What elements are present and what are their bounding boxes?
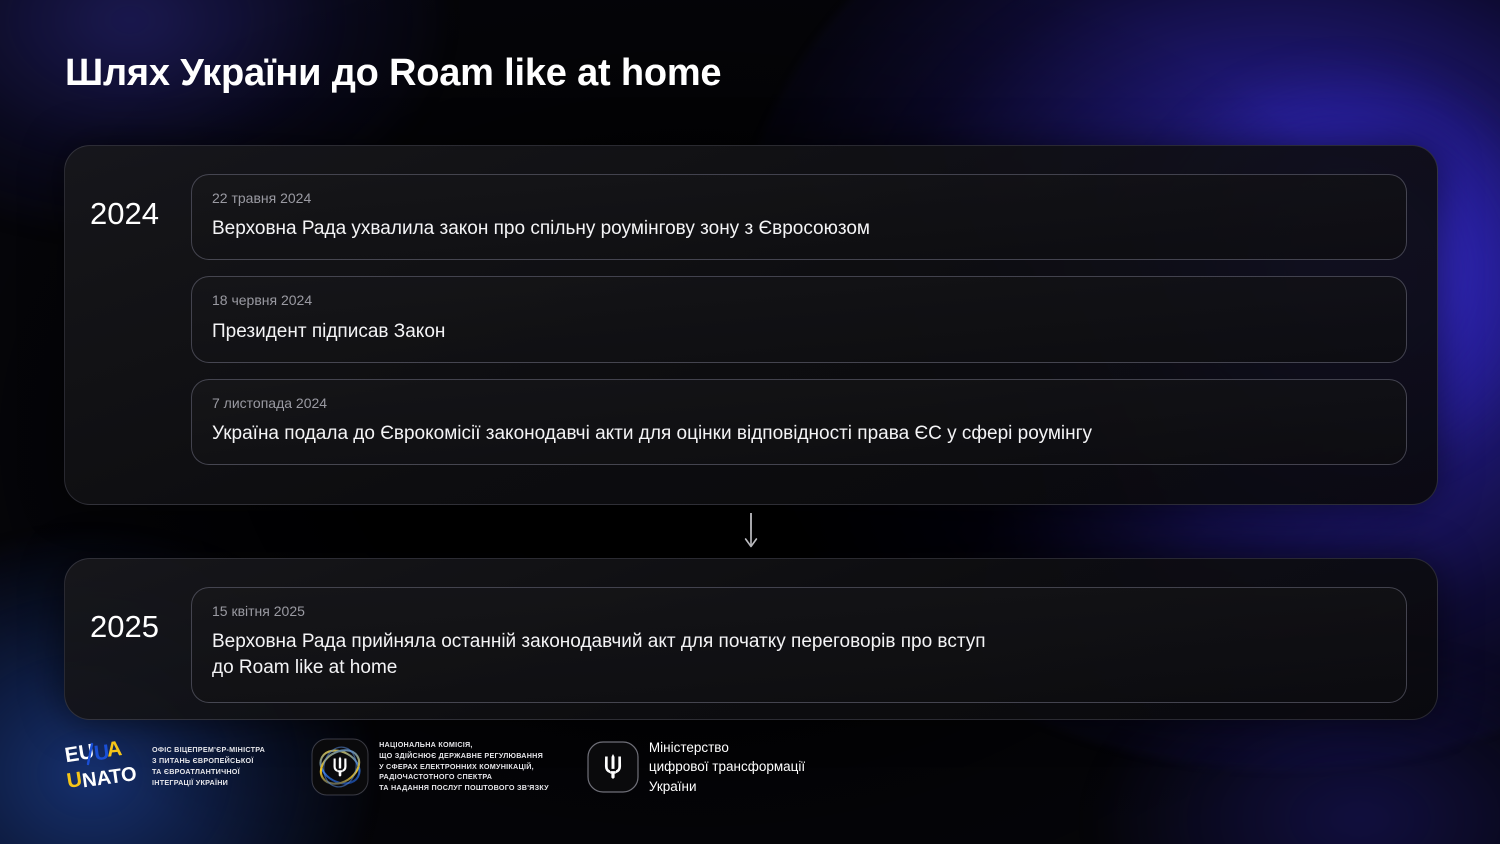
footer-logo-caption: Міністерство цифрової трансформації Укра… bbox=[649, 738, 805, 795]
event-text: Верховна Рада ухвалила закон про спільну… bbox=[212, 216, 1386, 242]
event-date: 7 листопада 2024 bbox=[212, 394, 1386, 412]
event-text: Президент підписав Закон bbox=[212, 319, 1386, 345]
event-date: 22 травня 2024 bbox=[212, 189, 1386, 207]
footer-logo-nkek: НАЦІОНАЛЬНА КОМІСІЯ, ЩО ЗДІЙСНЮЄ ДЕРЖАВН… bbox=[311, 738, 549, 796]
event-date: 18 червня 2024 bbox=[212, 291, 1386, 309]
event-card-list-2025: 15 квітня 2025 Верховна Рада прийняла ос… bbox=[191, 587, 1407, 703]
year-group-2025: 2025 15 квітня 2025 Верховна Рада прийня… bbox=[64, 558, 1438, 720]
page-title: Шлях України до Roam like at home bbox=[65, 52, 721, 96]
down-arrow-icon bbox=[744, 513, 758, 553]
svg-text:NATO: NATO bbox=[81, 763, 138, 792]
event-text: Верховна Рада прийняла останній законода… bbox=[212, 629, 1386, 681]
event-card[interactable]: 7 листопада 2024 Україна подала до Єврок… bbox=[191, 379, 1407, 465]
footer-logo-mintsyfra: Міністерство цифрової трансформації Укра… bbox=[587, 738, 805, 795]
footer-logo-bar: EU U A U NATO bbox=[62, 736, 805, 798]
year-label-2025: 2025 bbox=[65, 587, 191, 645]
year-group-2024: 2024 22 травня 2024 Верховна Рада ухвали… bbox=[64, 145, 1438, 505]
svg-text:A: A bbox=[105, 737, 123, 762]
slide-root: Шлях України до Roam like at home 2024 2… bbox=[0, 0, 1500, 844]
event-text: Україна подала до Єврокомісії законодавч… bbox=[212, 421, 1386, 447]
footer-logo-caption: НАЦІОНАЛЬНА КОМІСІЯ, ЩО ЗДІЙСНЮЄ ДЕРЖАВН… bbox=[379, 740, 549, 795]
nkek-trident-logo-icon bbox=[311, 738, 369, 796]
footer-logo-caption: ОФІС ВІЦЕПРЕМ'ЄР-МІНІСТРА З ПИТАНЬ ЄВРОП… bbox=[152, 745, 265, 789]
event-card[interactable]: 18 червня 2024 Президент підписав Закон bbox=[191, 276, 1407, 362]
footer-logo-eu-ua-nato: EU U A U NATO bbox=[62, 736, 265, 798]
year-label-2024: 2024 bbox=[65, 174, 191, 232]
eu-ua-nato-logo-icon: EU U A U NATO bbox=[62, 736, 142, 798]
event-card[interactable]: 22 травня 2024 Верховна Рада ухвалила за… bbox=[191, 174, 1407, 260]
mintsyfra-trident-logo-icon bbox=[587, 741, 639, 793]
event-card[interactable]: 15 квітня 2025 Верховна Рада прийняла ос… bbox=[191, 587, 1407, 703]
event-date: 15 квітня 2025 bbox=[212, 602, 1386, 620]
event-card-list-2024: 22 травня 2024 Верховна Рада ухвалила за… bbox=[191, 174, 1407, 465]
